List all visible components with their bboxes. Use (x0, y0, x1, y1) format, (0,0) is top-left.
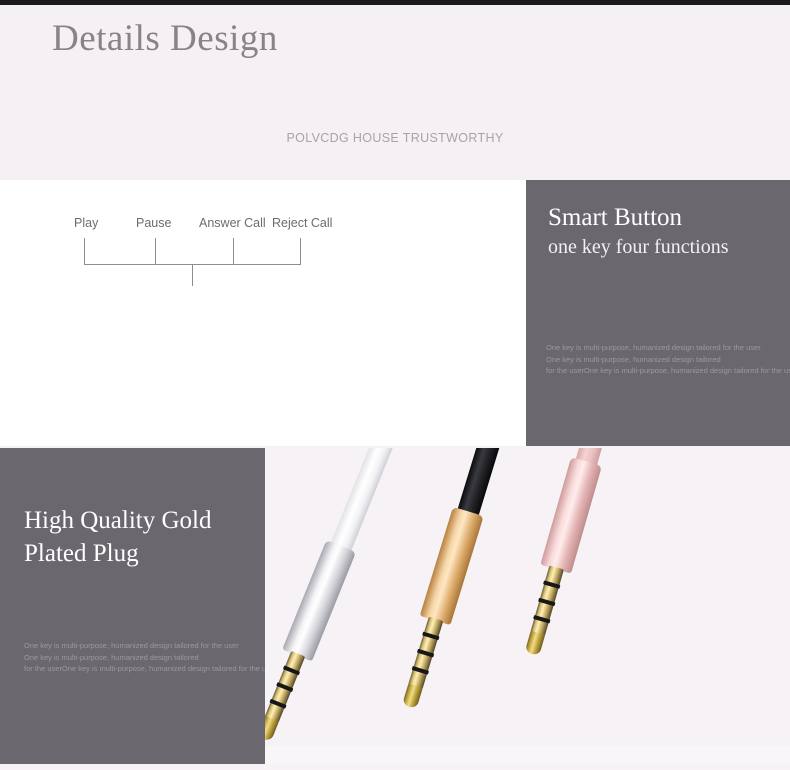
gold-plug-heading: High Quality Gold Plated Plug (24, 504, 256, 570)
gold-plug-section: High Quality Gold Plated Plug One key is… (0, 446, 790, 770)
photo-bottom-fade (265, 746, 790, 764)
product-detail-page: Details Design POLVCDG HOUSE TRUSTWORTHY… (0, 0, 790, 770)
plug-body-line-3: for the userOne key is multi-purpose, hu… (24, 663, 254, 675)
gold-plug-body-text: One key is multi-purpose, humanized desi… (24, 640, 254, 675)
brand-tagline: POLVCDG HOUSE TRUSTWORTHY (0, 131, 790, 145)
callout-leader-lines (0, 180, 526, 300)
callout-group: Play Pause Answer Call Reject Call (0, 180, 526, 446)
leader-tick-play (84, 238, 85, 264)
smart-button-subheading: one key four functions (548, 236, 729, 259)
smart-button-panel: Smart Button one key four functions One … (526, 180, 790, 446)
gold-plug-panel: High Quality Gold Plated Plug One key is… (0, 448, 265, 764)
header-band: Details Design POLVCDG HOUSE TRUSTWORTHY (0, 5, 790, 180)
smart-body-line-3: for the userOne key is multi-purpose, hu… (546, 365, 790, 377)
smart-button-body-text: One key is multi-purpose, humanized desi… (546, 342, 790, 377)
plug-body-line-1: One key is multi-purpose, humanized desi… (24, 640, 254, 652)
page-title: Details Design (52, 17, 278, 60)
gold-plug-photo (265, 448, 790, 764)
smart-body-line-1: One key is multi-purpose, humanized desi… (546, 342, 790, 354)
plug-body-line-2: One key is multi-purpose, humanized desi… (24, 652, 254, 664)
leader-stem-to-button (192, 264, 193, 286)
leader-tick-reject (300, 238, 301, 264)
leader-tick-answer (233, 238, 234, 264)
smart-body-line-2: One key is multi-purpose, humanized desi… (546, 354, 790, 366)
leader-tick-pause (155, 238, 156, 264)
smart-button-heading: Smart Button (548, 204, 682, 232)
